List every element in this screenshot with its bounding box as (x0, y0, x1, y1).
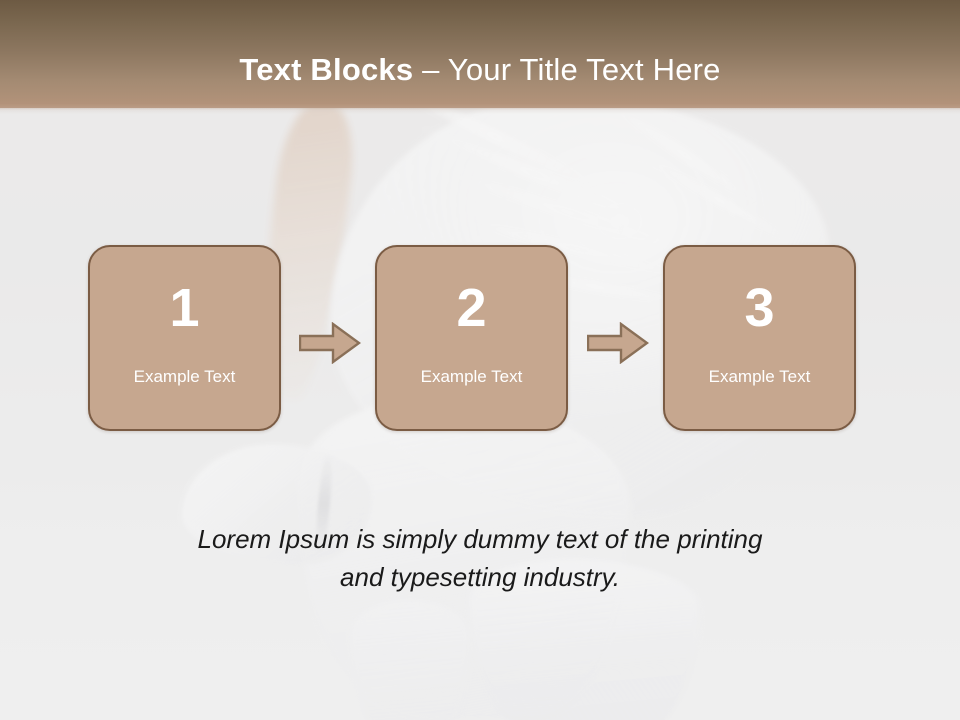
text-block-2[interactable]: 2 Example Text (375, 245, 568, 431)
text-block-1[interactable]: 1 Example Text (88, 245, 281, 431)
block-label: Example Text (90, 366, 279, 388)
block-label: Example Text (377, 366, 566, 388)
block-label: Example Text (665, 366, 854, 388)
slide-caption: Lorem Ipsum is simply dummy text of the … (110, 520, 850, 596)
block-number: 2 (377, 279, 566, 337)
text-blocks-row: 1 Example Text 2 Example Text 3 Example … (88, 245, 864, 433)
block-number: 1 (90, 279, 279, 337)
slide-canvas: Text Blocks – Your Title Text Here 1 Exa… (0, 0, 960, 720)
block-number: 3 (665, 279, 854, 337)
arrow-right-icon (299, 322, 361, 364)
caption-line-2: and typesetting industry. (110, 558, 850, 596)
text-block-3[interactable]: 3 Example Text (663, 245, 856, 431)
header-fade-edge (0, 104, 960, 114)
slide-title-regular: – Your Title Text Here (422, 52, 721, 87)
slide-title-bold: Text Blocks (239, 52, 422, 87)
caption-line-1: Lorem Ipsum is simply dummy text of the … (110, 520, 850, 558)
arrow-right-icon (587, 322, 649, 364)
slide-title: Text Blocks – Your Title Text Here (0, 50, 960, 90)
